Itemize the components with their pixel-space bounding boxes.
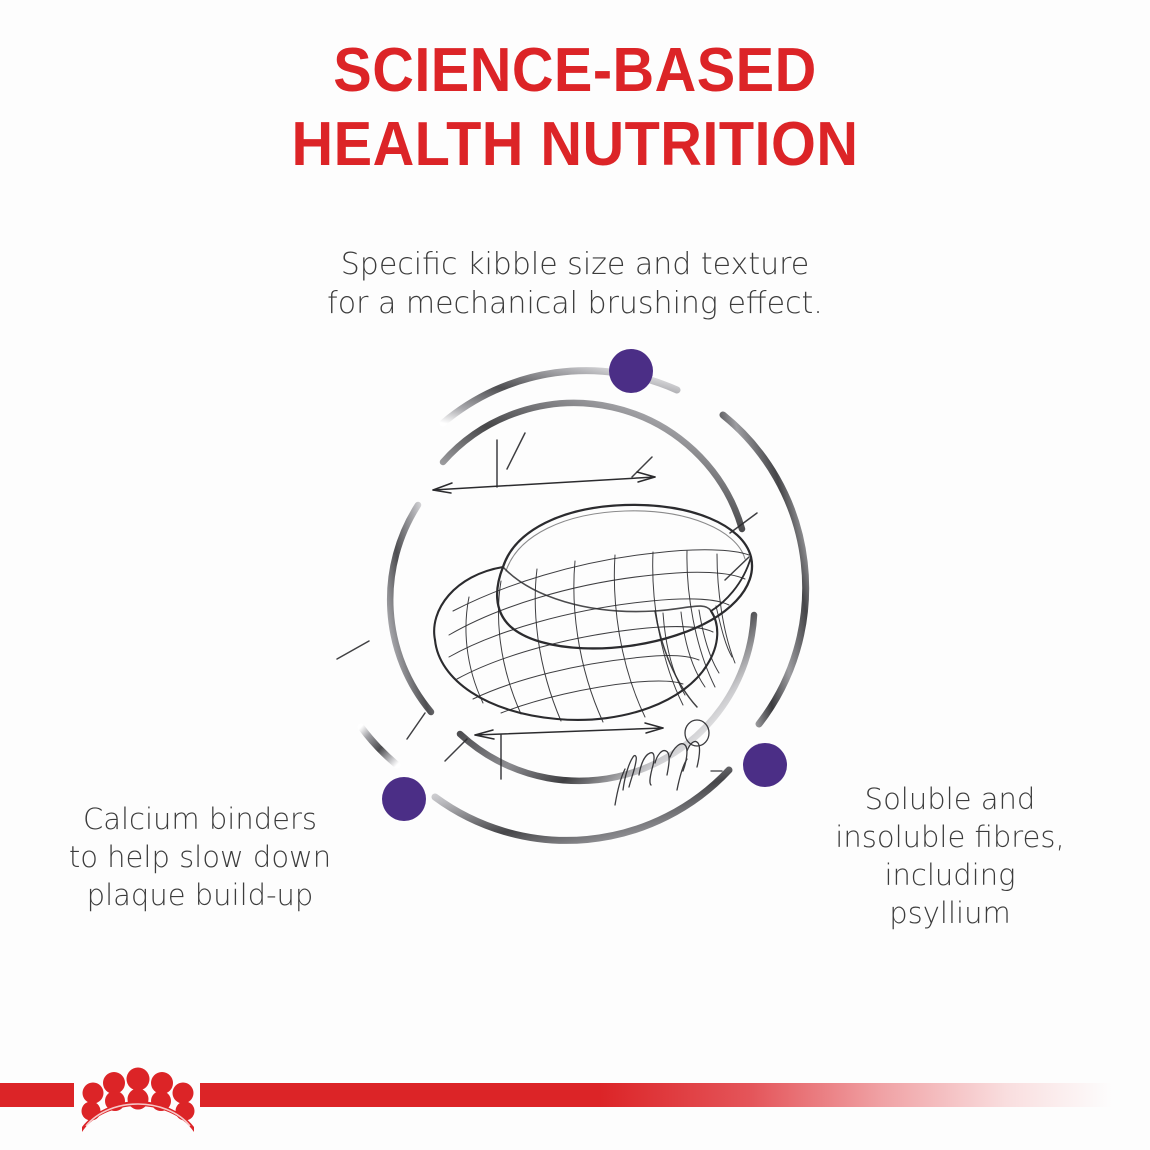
inner-ring (390, 403, 754, 781)
outer-ring (361, 371, 806, 841)
infographic-page: SCIENCE-BASED HEALTH NUTRITION Specific … (0, 0, 1150, 1150)
title-line-1: SCIENCE-BASED (40, 34, 1110, 108)
page-title: SCIENCE-BASED HEALTH NUTRITION (0, 34, 1150, 182)
callout-dot-left (382, 777, 426, 821)
kibble-sketch (337, 433, 757, 805)
callout-label-soluble-fibres: Soluble and insoluble fibres, including … (805, 780, 1095, 932)
title-line-2: HEALTH NUTRITION (40, 108, 1110, 182)
callout-dot-top (609, 349, 653, 393)
callout-label-kibble-texture: Specific kibble size and texture for a m… (275, 245, 875, 323)
kibble-sketch-diagram (325, 335, 845, 865)
callout-dot-right (743, 743, 787, 787)
callout-label-calcium-binders: Calcium binders to help slow down plaque… (30, 800, 370, 914)
footer-bar-right (200, 1083, 1150, 1107)
royal-canin-crown-logo (74, 1066, 202, 1136)
footer-banner (0, 1030, 1150, 1150)
footer-bar-left (0, 1083, 74, 1107)
